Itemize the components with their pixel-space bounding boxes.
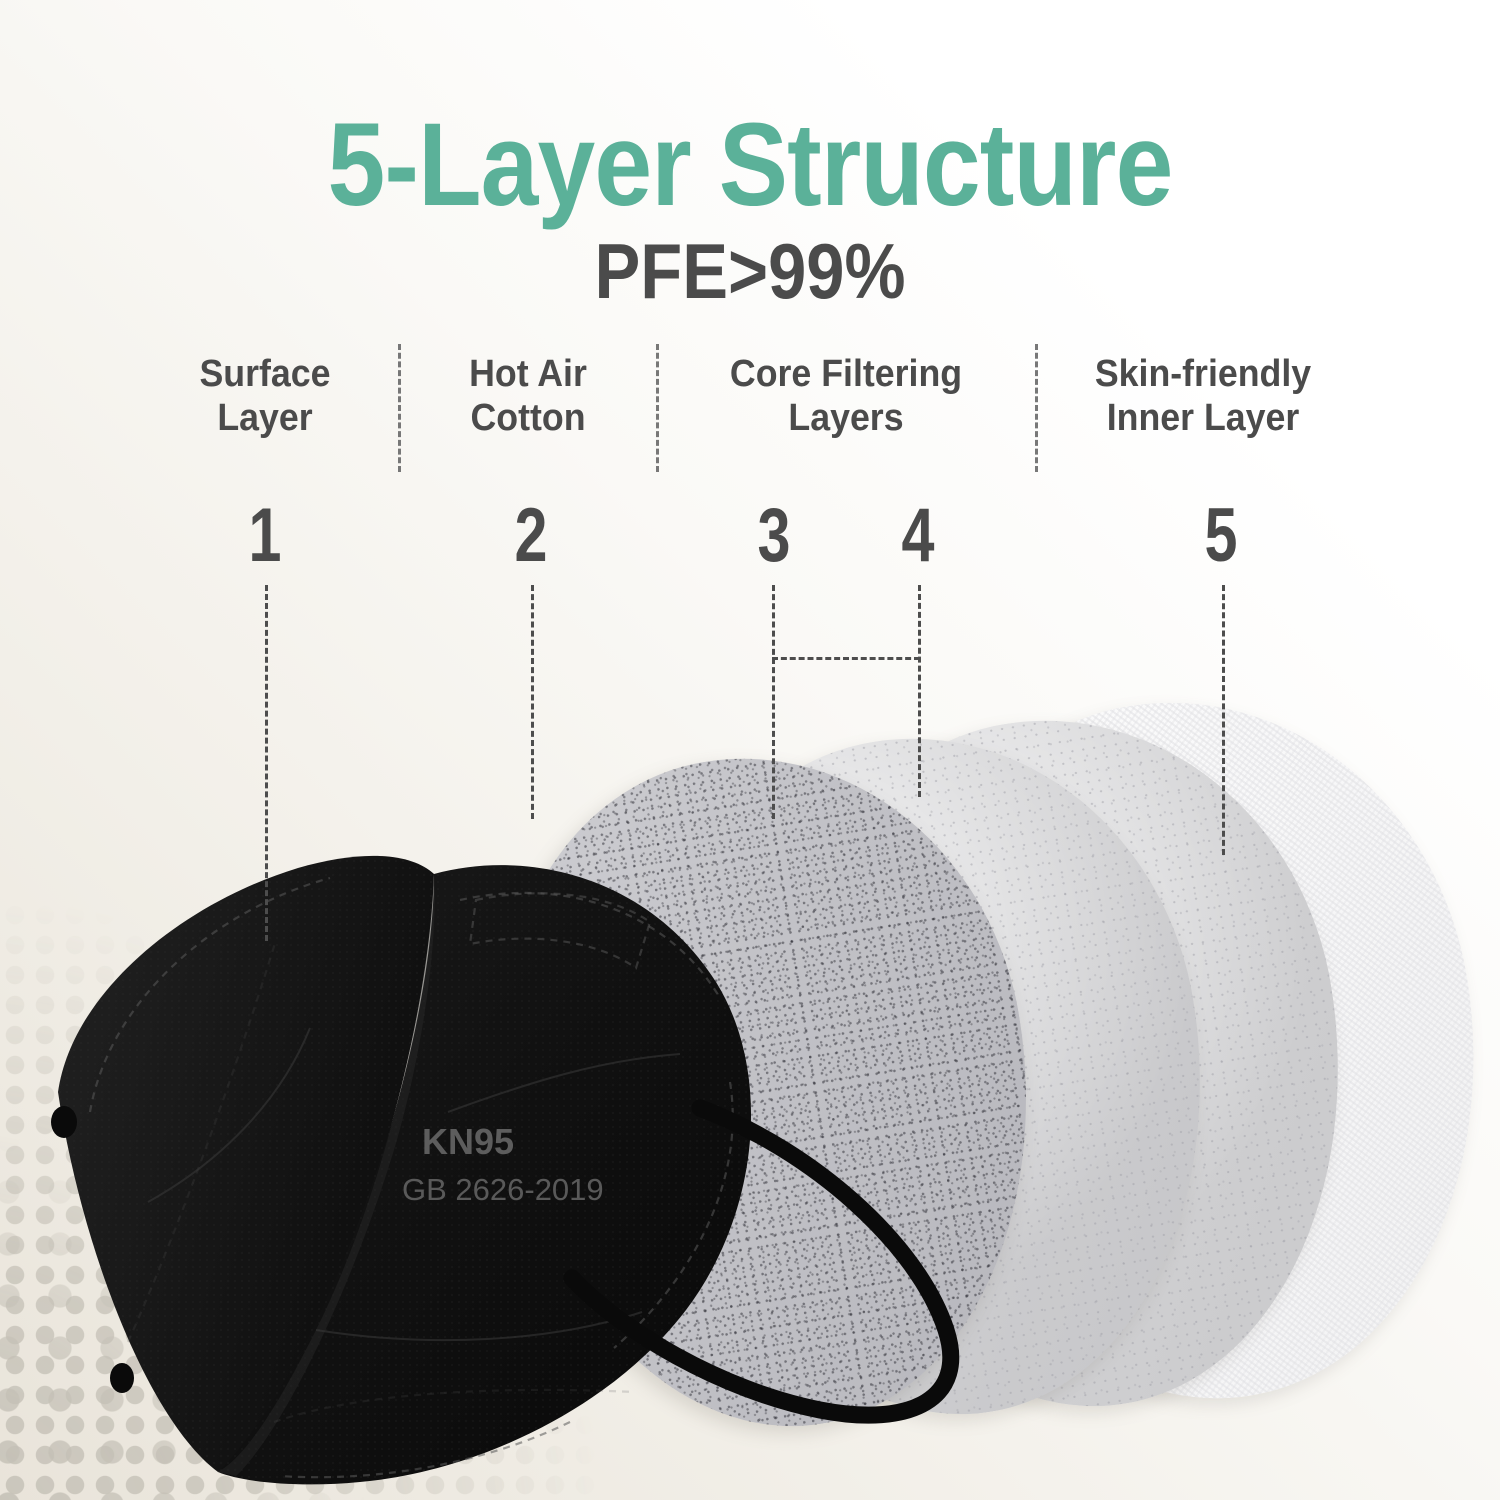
ear-loop-anchor-bottom	[110, 1363, 134, 1393]
leader-bracket-3-4	[772, 657, 920, 660]
leader-line-4	[918, 585, 921, 797]
infographic-canvas: 5-Layer Structure PFE>99% Surface Layer …	[0, 0, 1500, 1500]
kn95-mask-body: KN95 GB 2626-2019	[30, 782, 770, 1500]
ear-loop-anchor-top	[51, 1106, 77, 1138]
mask-standard-code: GB 2626-2019	[402, 1172, 604, 1207]
mask-shape-svg: KN95 GB 2626-2019	[30, 782, 770, 1500]
leader-line-3	[772, 585, 775, 819]
leader-line-1	[265, 585, 268, 941]
leader-line-2	[531, 585, 534, 819]
leader-line-5	[1222, 585, 1225, 855]
mask-standard-name: KN95	[422, 1121, 514, 1162]
